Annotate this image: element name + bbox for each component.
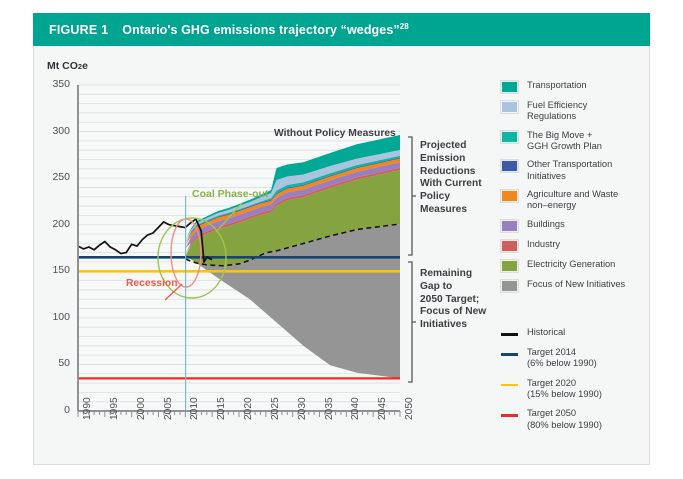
bracket-remaining-gap [408,262,416,382]
legend-line-swatch-icon [501,329,518,339]
legend-wedges: TransportationFuel Efficiency Regulation… [501,80,651,299]
annotation-without-policy: Without Policy Measures [274,128,396,139]
legend-item-label: Industry [527,239,560,250]
x-tick-label: 2030 [297,397,308,420]
legend-item-label: Transportation [527,80,587,91]
legend-item[interactable]: Transportation [501,80,651,93]
x-tick-label: 2040 [350,397,361,420]
legend-swatch-icon [501,160,518,172]
legend-line-item[interactable]: Historical [501,327,656,339]
legend-line-label: Target 2050 (80% below 1990) [527,408,602,431]
annotation-projected-reductions: Projected Emission Reductions With Curre… [420,140,490,217]
legend-item-label: Buildings [527,219,565,230]
legend-item-label: The Big Move + GGH Growth Plan [527,130,602,153]
legend-swatch-icon [501,280,518,292]
legend-item[interactable]: Fuel Efficiency Regulations [501,100,651,123]
legend-item-label: Other Transportation Initiatives [527,159,612,182]
legend-item[interactable]: Industry [501,239,651,252]
x-tick-label: 2000 [136,397,147,420]
y-tick-label: 350 [44,78,70,90]
x-tick-label: 2010 [189,397,200,420]
y-tick-label: 50 [44,357,70,369]
annotation-remaining-gap: Remaining Gap to 2050 Target; Focus of N… [420,268,490,332]
legend-item[interactable]: Buildings [501,219,651,232]
bracket-projected-reductions [408,137,416,255]
x-tick-label: 2015 [216,397,227,420]
figure-root: FIGURE 1 Ontario's GHG emissions traject… [0,0,683,479]
legend-item[interactable]: The Big Move + GGH Growth Plan [501,130,651,153]
x-tick-label: 2020 [243,397,254,420]
legend-swatch-icon [501,220,518,232]
legend-item[interactable]: Agriculture and Waste non–energy [501,189,651,212]
legend-swatch-icon [501,101,518,113]
legend-line-item[interactable]: Target 2020 (15% below 1990) [501,378,656,401]
legend-line-item[interactable]: Target 2050 (80% below 1990) [501,408,656,431]
legend-item-label: Focus of New Initiatives [527,279,625,290]
legend-item-label: Fuel Efficiency Regulations [527,100,587,123]
legend-item-label: Electricity Generation [527,259,615,270]
annotation-coal-phase-out: Coal Phase-out [192,188,268,200]
legend-line-label: Target 2014 (6% below 1990) [527,347,597,370]
y-tick-label: 0 [44,404,70,416]
legend-swatch-icon [501,260,518,272]
legend-line-item[interactable]: Target 2014 (6% below 1990) [501,347,656,370]
x-tick-label: 1995 [109,397,120,420]
y-tick-label: 150 [44,264,70,276]
y-tick-label: 300 [44,125,70,137]
legend-swatch-icon [501,240,518,252]
legend-item[interactable]: Focus of New Initiatives [501,279,651,292]
x-tick-label: 2025 [270,397,281,420]
legend-swatch-icon [501,190,518,202]
y-tick-label: 100 [44,311,70,323]
legend-item[interactable]: Other Transportation Initiatives [501,159,651,182]
legend-line-swatch-icon [501,380,518,390]
x-tick-label: 2045 [377,397,388,420]
legend-line-swatch-icon [501,349,518,359]
legend-line-label: Historical [527,327,565,338]
legend-line-label: Target 2020 (15% below 1990) [527,378,602,401]
x-tick-label: 1990 [82,397,93,420]
legend-swatch-icon [501,81,518,93]
legend-item[interactable]: Electricity Generation [501,259,651,272]
annotation-recession: Recession [126,278,178,289]
legend-lines: HistoricalTarget 2014 (6% below 1990)Tar… [501,327,656,439]
y-tick-label: 200 [44,218,70,230]
x-tick-label: 2050 [404,397,415,420]
legend-swatch-icon [501,131,518,143]
x-tick-label: 2005 [163,397,174,420]
legend-item-label: Agriculture and Waste non–energy [527,189,618,212]
y-tick-label: 250 [44,171,70,183]
x-tick-label: 2035 [324,397,335,420]
legend-line-swatch-icon [501,410,518,420]
